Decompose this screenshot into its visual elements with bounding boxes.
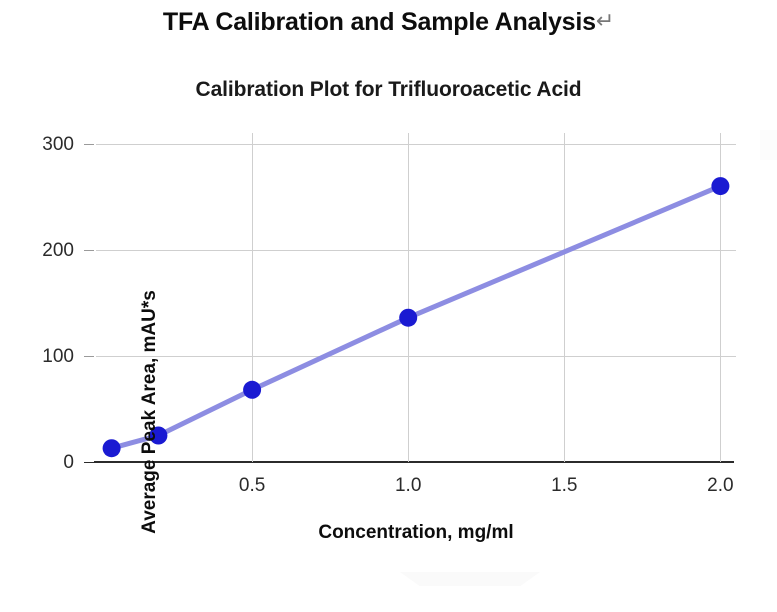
y-axis-tick-label: 0	[14, 453, 74, 472]
y-axis-tick	[84, 250, 94, 251]
x-axis-tick-label: 1.5	[529, 476, 599, 495]
data-point-marker	[243, 381, 261, 399]
data-point-marker	[711, 177, 729, 195]
y-axis-tick-label: 100	[14, 347, 74, 366]
x-axis-tick-label: 1.0	[373, 476, 443, 495]
plot-area: Average Peak Area, mAU*s	[96, 133, 736, 462]
page-canvas: TFA Calibration and Sample Analysis↵ Cal…	[0, 0, 777, 588]
chart-title: Calibration Plot for Trifluoroacetic Aci…	[0, 78, 777, 102]
calibration-chart: Calibration Plot for Trifluoroacetic Aci…	[0, 0, 777, 588]
page-shadow-artifact	[400, 572, 540, 586]
data-point-marker	[103, 439, 121, 457]
y-axis-tick-label: 200	[14, 241, 74, 260]
y-axis-tick	[84, 356, 94, 357]
x-axis-tick-label: 0.5	[217, 476, 287, 495]
y-axis-tick	[84, 144, 94, 145]
x-axis-title: Concentration, mg/ml	[96, 522, 736, 544]
series-layer	[96, 133, 736, 462]
y-axis-tick	[84, 462, 94, 463]
y-axis-tick-label: 300	[14, 135, 74, 154]
page-edge-artifact	[760, 130, 777, 160]
x-axis-tick-label: 2.0	[685, 476, 755, 495]
y-axis-title: Average Peak Area, mAU*s	[139, 212, 161, 612]
data-point-marker	[399, 309, 417, 327]
